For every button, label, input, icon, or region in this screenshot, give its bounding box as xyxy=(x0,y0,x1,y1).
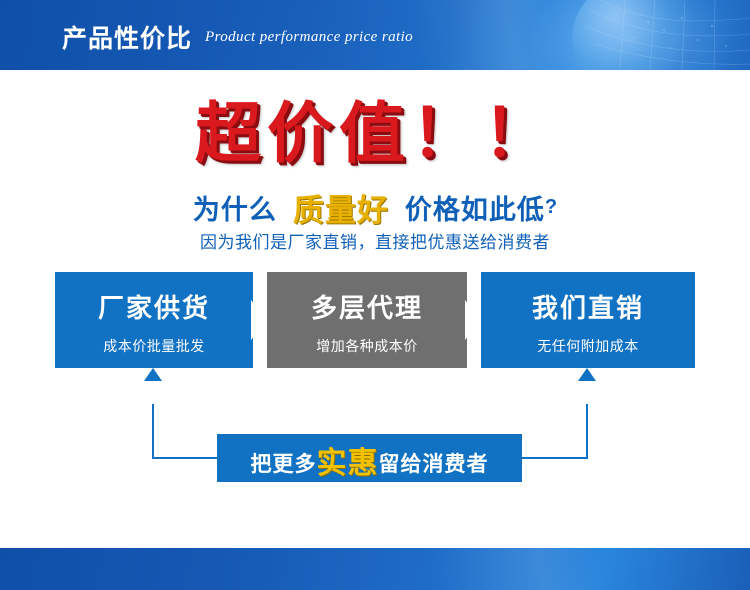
arrow-right-icon-1 xyxy=(251,300,267,340)
header-glow xyxy=(470,0,750,70)
flow-box-supplier-title: 厂家供货 xyxy=(55,288,253,325)
connector-left-vertical xyxy=(152,404,154,458)
arrow-right-icon-2 xyxy=(465,300,481,340)
bottom-banner: 把更多实惠留给消费者 xyxy=(217,434,522,482)
flow-box-agents-subtitle: 增加各种成本价 xyxy=(267,336,467,356)
footer-banner xyxy=(0,548,750,590)
bottom-banner-prefix: 把更多 xyxy=(251,448,317,478)
header-title-cn: 产品性价比 xyxy=(62,19,192,55)
header-title-en: Product performance price ratio xyxy=(205,29,413,46)
subheadline-left: 为什么 xyxy=(193,195,277,225)
promo-page: 产品性价比 Product performance price ratio 超价… xyxy=(0,0,750,590)
world-map-grid-icon xyxy=(450,0,750,70)
headline: 超价值！！ xyxy=(0,80,750,176)
bottom-banner-highlight: 实惠 xyxy=(317,438,379,482)
bottom-banner-suffix: 留给消费者 xyxy=(379,448,489,478)
header-banner: 产品性价比 Product performance price ratio xyxy=(0,0,750,70)
footer-light-streak xyxy=(0,548,750,590)
subheadline-question-mark: ? xyxy=(545,196,557,218)
subheadline-right: 价格如此低 xyxy=(405,195,545,225)
flow-box-supplier-subtitle: 成本价批量批发 xyxy=(55,336,253,356)
globe-icon xyxy=(572,0,696,70)
flow-box-direct-sales-subtitle: 无任何附加成本 xyxy=(481,336,695,356)
flow-box-agents: 多层代理 增加各种成本价 xyxy=(267,272,467,368)
flow-box-direct-sales: 我们直销 无任何附加成本 xyxy=(481,272,695,368)
connector-left-horizontal xyxy=(152,457,218,459)
subheadline-middle: 质量好 xyxy=(293,193,389,228)
flow-box-agents-title: 多层代理 xyxy=(267,288,467,325)
arrow-up-icon-left xyxy=(144,368,162,381)
arrow-up-icon-right xyxy=(578,368,596,381)
flow-box-direct-sales-title: 我们直销 xyxy=(481,288,695,325)
connector-right-horizontal xyxy=(520,457,588,459)
reason-text: 因为我们是厂家直销，直接把优惠送给消费者 xyxy=(0,228,750,253)
subheadline: 为什么质量好价格如此低? xyxy=(0,185,750,230)
flow-diagram: 厂家供货 成本价批量批发 多层代理 增加各种成本价 我们直销 无任何附加成本 xyxy=(55,272,695,368)
connector-right-vertical xyxy=(586,404,588,458)
flow-box-supplier: 厂家供货 成本价批量批发 xyxy=(55,272,253,368)
